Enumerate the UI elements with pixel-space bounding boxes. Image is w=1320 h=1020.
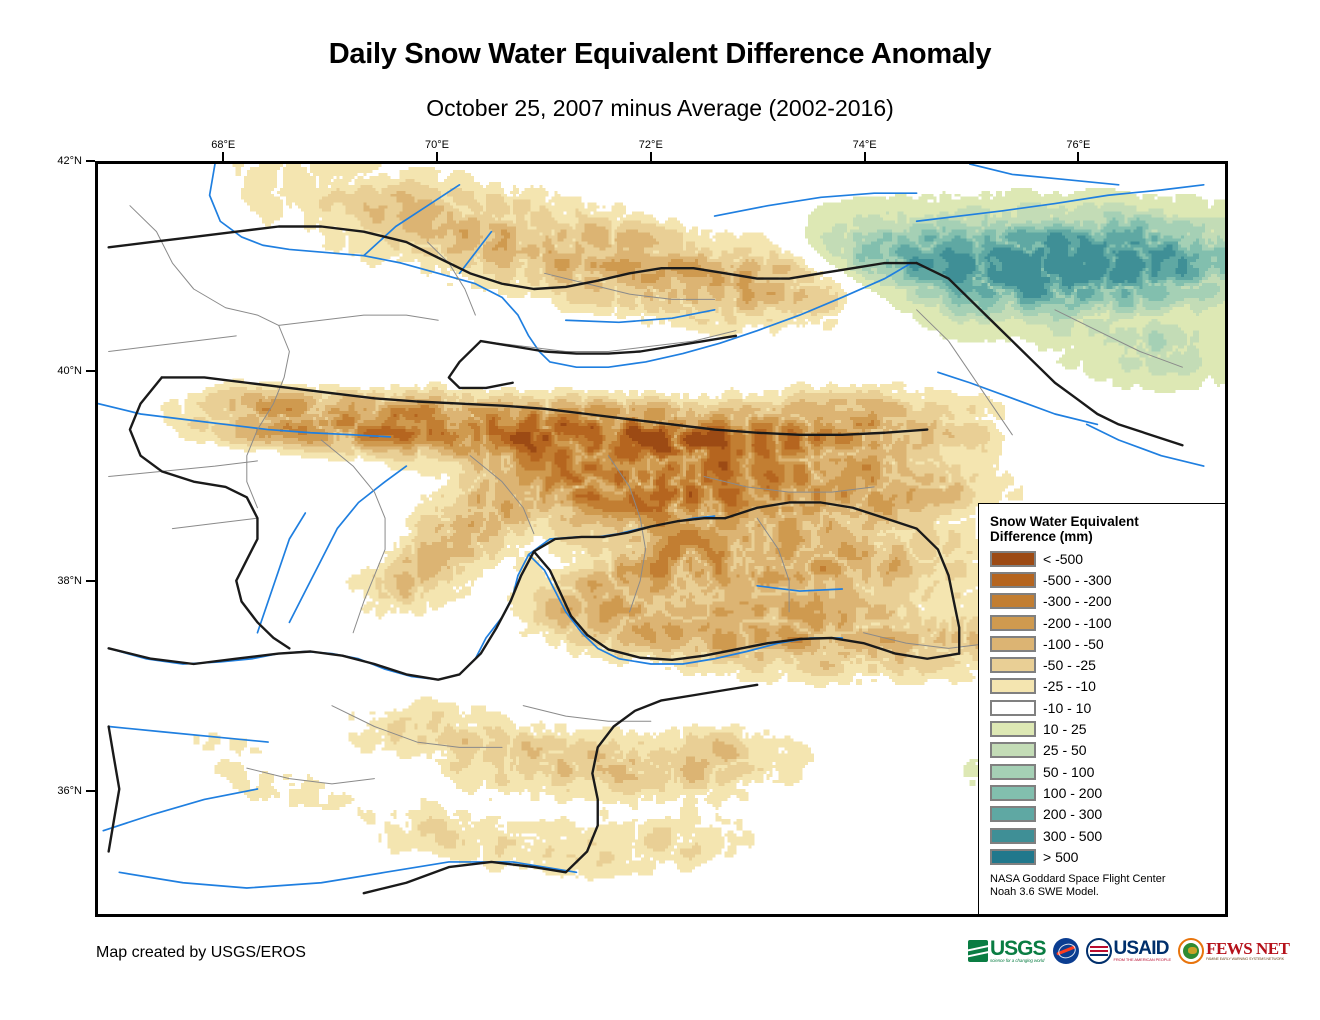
- fews-globe-icon: [1178, 938, 1204, 964]
- legend-label: 100 - 200: [1043, 785, 1102, 801]
- legend-title: Snow Water Equivalent Difference (mm): [990, 514, 1190, 544]
- legend-swatch: [990, 700, 1036, 716]
- legend-swatch: [990, 657, 1036, 673]
- legend-entry: > 500: [990, 846, 1227, 867]
- legend-label: < -500: [1043, 551, 1083, 567]
- usaid-logo-tagline: FROM THE AMERICAN PEOPLE: [1114, 957, 1172, 962]
- legend-label: -300 - -200: [1043, 593, 1111, 609]
- nasa-logo: [1053, 934, 1079, 968]
- legend-label: -10 - 10: [1043, 700, 1091, 716]
- legend-label: 50 - 100: [1043, 764, 1094, 780]
- legend-swatch: [990, 806, 1036, 822]
- legend-swatch: [990, 615, 1036, 631]
- x-axis-label: 70°E: [425, 139, 449, 151]
- legend-entries: < -500-500 - -300-300 - -200-200 - -100-…: [990, 548, 1227, 867]
- legend-label: -25 - -10: [1043, 678, 1096, 694]
- legend-source-line2: Noah 3.6 SWE Model.: [990, 886, 1215, 899]
- legend-swatch: [990, 572, 1036, 588]
- usaid-logo-text: USAID: [1114, 940, 1172, 957]
- legend-label: 200 - 300: [1043, 806, 1102, 822]
- legend-entry: 200 - 300: [990, 804, 1227, 825]
- legend-swatch: [990, 785, 1036, 801]
- legend-swatch: [990, 551, 1036, 567]
- legend-label: -50 - -25: [1043, 657, 1096, 673]
- legend-entry: -200 - -100: [990, 612, 1227, 633]
- legend-label: 300 - 500: [1043, 828, 1102, 844]
- page-subtitle: October 25, 2007 minus Average (2002-201…: [0, 95, 1320, 122]
- x-axis-label: 68°E: [211, 139, 235, 151]
- y-axis-label: 36°N: [57, 785, 82, 797]
- legend-swatch: [990, 593, 1036, 609]
- fews-logo-tagline: FAMINE EARLY WARNING SYSTEMS NETWORK: [1206, 957, 1289, 961]
- y-axis-tick: [86, 580, 95, 582]
- legend-source: NASA Goddard Space Flight Center Noah 3.…: [990, 873, 1215, 899]
- legend-entry: -10 - 10: [990, 697, 1227, 718]
- legend-entry: -100 - -50: [990, 633, 1227, 654]
- page-title: Daily Snow Water Equivalent Difference A…: [0, 38, 1320, 71]
- y-axis-tick: [86, 790, 95, 792]
- legend-swatch: [990, 742, 1036, 758]
- x-axis-tick: [650, 152, 652, 161]
- logo-bar: USGS science for a changing world USAID …: [968, 933, 1289, 969]
- y-axis-tick: [86, 370, 95, 372]
- legend-entry: 100 - 200: [990, 782, 1227, 803]
- legend-label: 10 - 25: [1043, 721, 1087, 737]
- y-axis-label: 42°N: [57, 155, 82, 167]
- legend-entry: -500 - -300: [990, 569, 1227, 590]
- usgs-mark-icon: [968, 940, 988, 962]
- legend-entry: 300 - 500: [990, 825, 1227, 846]
- usgs-logo: USGS science for a changing world: [968, 934, 1046, 968]
- x-axis-tick: [436, 152, 438, 161]
- legend-entry: 10 - 25: [990, 718, 1227, 739]
- legend-label: > 500: [1043, 849, 1078, 865]
- y-axis-tick: [86, 160, 95, 162]
- map-credit: Map created by USGS/EROS: [96, 944, 306, 962]
- legend-swatch: [990, 636, 1036, 652]
- legend-label: 25 - 50: [1043, 742, 1087, 758]
- x-axis-tick: [864, 152, 866, 161]
- legend-entry: < -500: [990, 548, 1227, 569]
- x-axis-label: 72°E: [639, 139, 663, 151]
- legend-entry: 25 - 50: [990, 740, 1227, 761]
- x-axis-tick: [1077, 152, 1079, 161]
- fews-net-logo: FEWS NET FAMINE EARLY WARNING SYSTEMS NE…: [1178, 934, 1289, 968]
- legend-swatch: [990, 721, 1036, 737]
- legend-swatch: [990, 678, 1036, 694]
- map-legend: Snow Water Equivalent Difference (mm) < …: [978, 503, 1228, 915]
- legend-entry: -300 - -200: [990, 591, 1227, 612]
- map-frame[interactable]: Snow Water Equivalent Difference (mm) < …: [95, 161, 1228, 917]
- legend-label: -100 - -50: [1043, 636, 1104, 652]
- legend-label: -200 - -100: [1043, 615, 1111, 631]
- y-axis-label: 40°N: [57, 365, 82, 377]
- usgs-logo-tagline: science for a changing world: [990, 958, 1046, 963]
- x-axis-label: 74°E: [853, 139, 877, 151]
- usaid-seal-icon: [1086, 938, 1112, 964]
- legend-entry: -25 - -10: [990, 676, 1227, 697]
- nasa-meatball-icon: [1053, 938, 1079, 964]
- fews-logo-text: FEWS NET: [1206, 941, 1289, 957]
- legend-label: -500 - -300: [1043, 572, 1111, 588]
- y-axis-label: 38°N: [57, 575, 82, 587]
- x-axis-tick: [222, 152, 224, 161]
- legend-title-line2: Difference (mm): [990, 529, 1190, 544]
- legend-swatch: [990, 828, 1036, 844]
- legend-source-line1: NASA Goddard Space Flight Center: [990, 873, 1215, 886]
- usgs-logo-text: USGS: [990, 939, 1046, 958]
- legend-entry: 50 - 100: [990, 761, 1227, 782]
- usaid-logo: USAID FROM THE AMERICAN PEOPLE: [1086, 934, 1172, 968]
- legend-swatch: [990, 849, 1036, 865]
- legend-title-line1: Snow Water Equivalent: [990, 514, 1190, 529]
- legend-swatch: [990, 764, 1036, 780]
- legend-entry: -50 - -25: [990, 654, 1227, 675]
- x-axis-label: 76°E: [1066, 139, 1090, 151]
